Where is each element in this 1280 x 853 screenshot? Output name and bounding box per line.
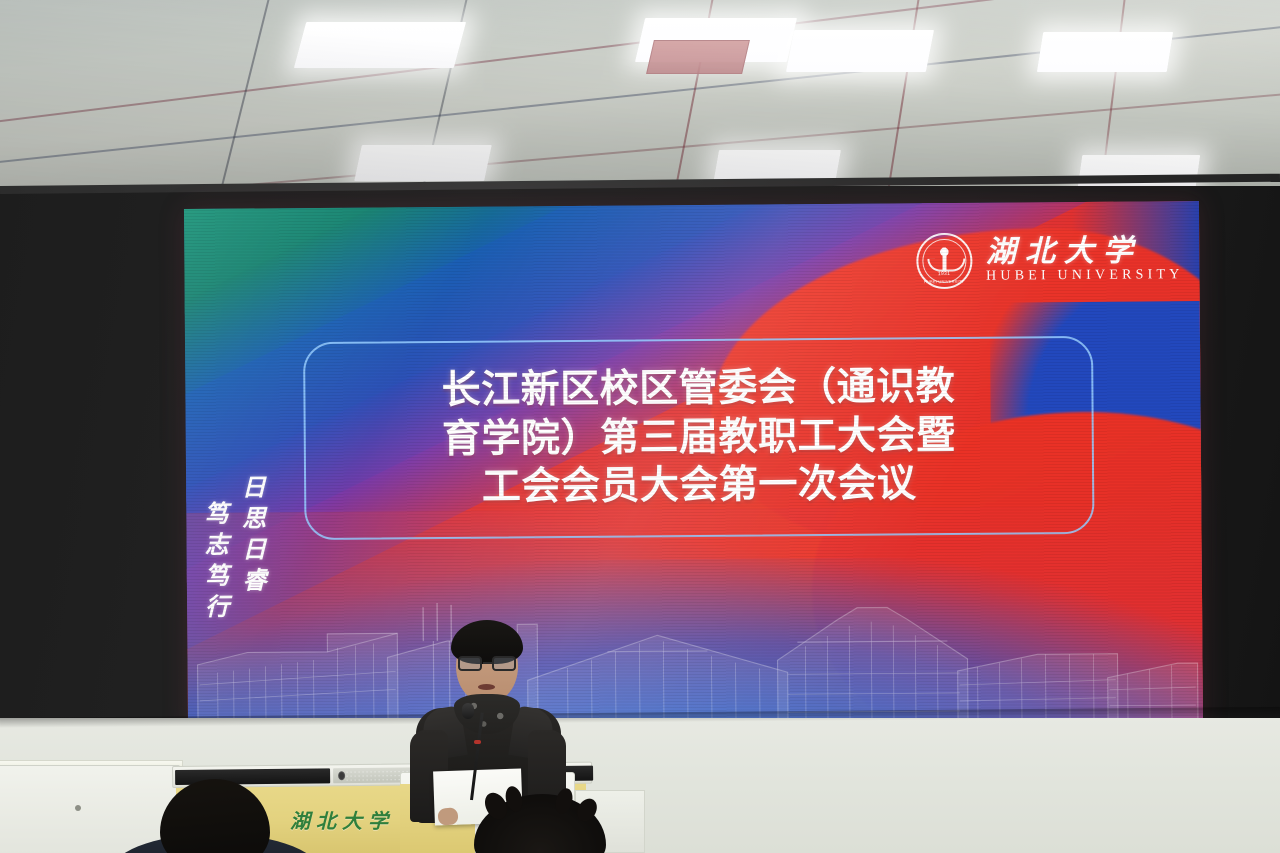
wordmark-english: HUBEI UNIVERSITY [986, 268, 1184, 284]
hubei-university-logo: 1931 HUBEI UNIVERSITY 湖北大学 HUBEI UNIVERS… [916, 231, 1184, 289]
meeting-title-card: 长江新区校区管委会（通识教 育学院）第三届教职工大会暨 工会会员大会第一次会议 [303, 336, 1095, 540]
ceiling-light-panel [1037, 32, 1173, 72]
wordmark: 湖北大学 HUBEI UNIVERSITY [986, 236, 1184, 284]
ceiling-vent-panel [646, 40, 750, 74]
speaker-person [408, 612, 568, 817]
meeting-title-line-1: 长江新区校区管委会（通识教 [441, 365, 955, 413]
ceiling-runner [204, 0, 279, 212]
university-motto: 笃志笃行 日思日睿 [200, 474, 266, 625]
side-cabinet [0, 765, 180, 853]
seal-ring-text: HUBEI UNIVERSITY [918, 279, 970, 284]
rail-button-icon[interactable] [338, 771, 345, 780]
seal-year: 1931 [918, 271, 970, 277]
microphone-indicator [474, 740, 481, 744]
ceiling-runner [0, 0, 1280, 170]
campus-skyline-illustration [187, 565, 1203, 733]
ceiling-light-panel [294, 22, 466, 68]
meeting-title-line-3: 工会会员大会第一次会议 [482, 462, 917, 510]
motto-column-right: 日思日睿 [238, 474, 267, 598]
seal-emblem-glyph [932, 247, 956, 271]
university-seal-icon: 1931 HUBEI UNIVERSITY [916, 233, 972, 289]
ceiling-light-panel [786, 30, 934, 72]
meeting-title-line-2: 育学院）第三届教职工大会暨 [442, 414, 956, 462]
led-display-screen: 1931 HUBEI UNIVERSITY 湖北大学 HUBEI UNIVERS… [184, 201, 1203, 733]
desk-university-logo: 湖北大学 [290, 805, 394, 834]
speaker-glasses-icon [457, 656, 517, 672]
conference-hall-photo: 1931 HUBEI UNIVERSITY 湖北大学 HUBEI UNIVERS… [0, 0, 1280, 853]
glasses-lens-right [492, 656, 516, 671]
wordmark-chinese: 湖北大学 [986, 236, 1184, 268]
ceiling-light-panel [354, 145, 492, 181]
glasses-bridge [483, 662, 492, 664]
cabinet-knob-icon [75, 805, 81, 811]
motto-column-left: 笃志笃行 [200, 501, 229, 625]
glasses-lens-left [458, 656, 482, 671]
microphone-head-icon [462, 703, 474, 719]
speaker-mouth [478, 684, 495, 690]
